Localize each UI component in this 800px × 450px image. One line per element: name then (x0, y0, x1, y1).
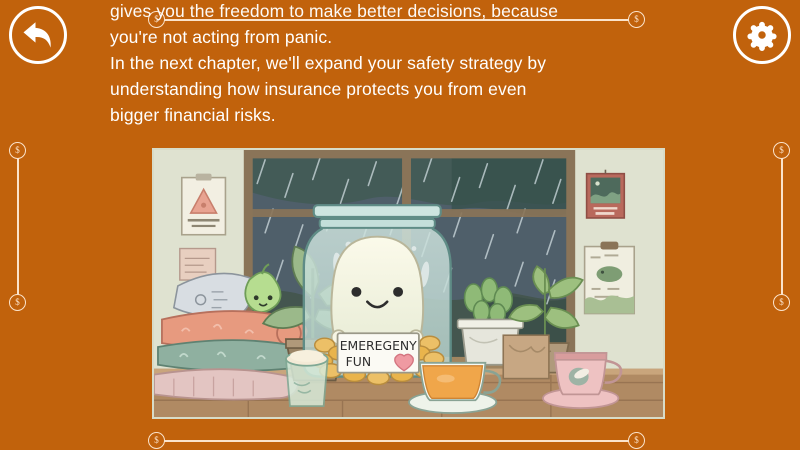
coin-bottom-left: $ (148, 432, 165, 449)
wall-poster-warning (182, 174, 226, 235)
lesson-text-block: gives you the freedom to make better dec… (110, 8, 710, 128)
jar-label-line1: EMEREGENY (340, 339, 417, 353)
jar-label: EMEREGENY FUN (338, 333, 419, 372)
jar-label-line2: FUN (346, 355, 371, 369)
wall-poster-right-bottom (585, 242, 635, 314)
box-stack (503, 335, 549, 378)
back-button[interactable] (9, 6, 67, 64)
lesson-illustration: EMEREGENY FUN (152, 148, 665, 419)
lesson-line-4: understanding how insurance protects you… (110, 76, 710, 102)
lesson-line-2: you're not acting from panic. (110, 24, 710, 50)
coin-left-lower: $ (9, 294, 26, 311)
wall-poster-right-top (587, 170, 625, 218)
blob-eye-right (393, 287, 403, 297)
coin-left-upper: $ (9, 142, 26, 159)
lesson-line-3: In the next chapter, we'll expand your s… (110, 50, 710, 76)
gear-icon (745, 18, 779, 52)
blob-eye-left (351, 287, 361, 297)
coin-right-lower: $ (773, 294, 790, 311)
drink-glass (286, 350, 328, 406)
frame-line-bottom (160, 440, 635, 442)
lesson-line-5: bigger financial risks. (110, 102, 710, 128)
app-screen: $ $ $ $ $ $ $ $ gives you the freedom to… (0, 0, 800, 450)
illustration-svg: EMEREGENY FUN (154, 150, 663, 417)
back-arrow-icon (21, 20, 55, 50)
coin-bottom-right: $ (628, 432, 645, 449)
lesson-line-1: gives you the freedom to make better dec… (110, 0, 710, 24)
frame-line-right-upper (781, 158, 783, 300)
frame-line-left-upper (17, 158, 19, 300)
coin-right-upper: $ (773, 142, 790, 159)
settings-button[interactable] (733, 6, 791, 64)
